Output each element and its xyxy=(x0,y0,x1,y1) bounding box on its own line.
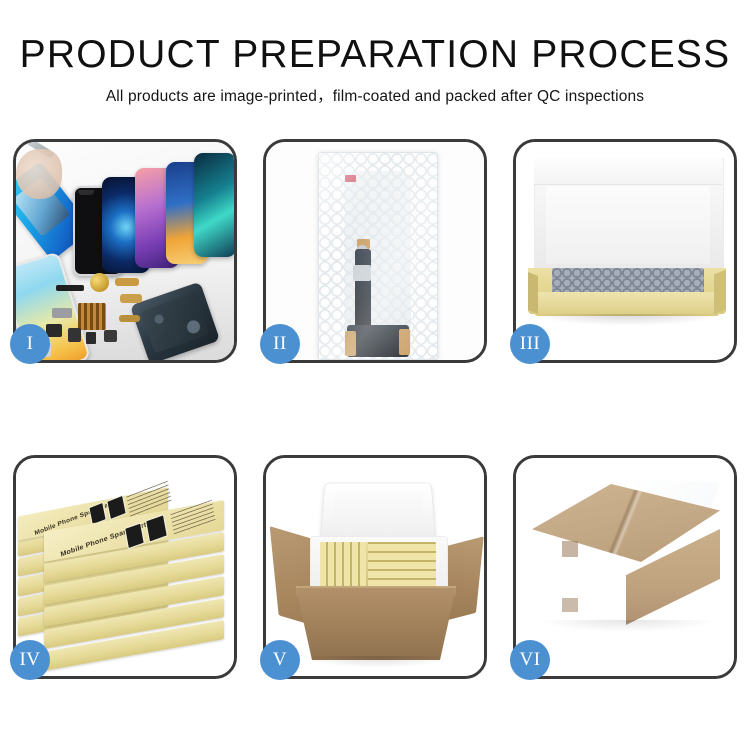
step-3-image xyxy=(516,142,734,360)
carton-shadow xyxy=(302,656,452,668)
product-preparation-page: PRODUCT PREPARATION PROCESS All products… xyxy=(0,0,750,750)
part-chip-3 xyxy=(86,332,96,344)
bubble-wrap-bag xyxy=(318,152,438,360)
step-panel-3: III xyxy=(513,139,737,363)
step-6-image xyxy=(516,458,734,676)
step-5-image xyxy=(266,458,484,676)
foam-lid-open xyxy=(319,483,436,545)
step-panel-4: Mobile Phone Spare Parts Mobile Phone Sp… xyxy=(13,455,237,679)
part-camera-module xyxy=(104,330,117,342)
part-gold-disc xyxy=(90,273,109,292)
page-subtitle: All products are image-printed，film-coat… xyxy=(0,84,750,106)
step-panel-5: V xyxy=(263,455,487,679)
part-metal-bracket xyxy=(52,308,72,318)
step-panel-6: VI xyxy=(513,455,737,679)
part-chip-1 xyxy=(46,324,62,337)
process-steps-grid: I II xyxy=(13,139,737,679)
plastic-sheen xyxy=(319,153,437,359)
part-flex-cable-3 xyxy=(119,315,140,322)
step-1-image xyxy=(16,142,234,360)
step-badge-1: I xyxy=(10,324,50,364)
box-shadow xyxy=(530,314,726,326)
part-connector-grid xyxy=(78,303,106,330)
step-badge-6: VI xyxy=(510,640,550,680)
box-lid-inner-face xyxy=(546,186,710,264)
part-speaker-mesh xyxy=(56,285,84,291)
carton-body-open xyxy=(296,588,456,660)
header: PRODUCT PREPARATION PROCESS All products… xyxy=(0,34,750,106)
part-flex-cable-1 xyxy=(115,278,139,286)
carton-shadow xyxy=(540,620,716,632)
step-4-image: Mobile Phone Spare Parts Mobile Phone Sp… xyxy=(16,458,234,676)
box-tray-right-wall xyxy=(714,270,726,315)
box-tray-left-wall xyxy=(528,272,538,314)
carton-tape-upper xyxy=(562,541,578,557)
step-panel-1: I xyxy=(13,139,237,363)
step-badge-2: II xyxy=(260,324,300,364)
step-badge-4: IV xyxy=(10,640,50,680)
step-panel-2: II xyxy=(263,139,487,363)
part-chip-2 xyxy=(68,328,81,342)
carton-tape-lower xyxy=(562,598,578,612)
part-flex-cable-2 xyxy=(120,294,142,303)
box-tray-front-face xyxy=(534,292,720,316)
phone-teal-wallpaper xyxy=(194,153,234,257)
page-title: PRODUCT PREPARATION PROCESS xyxy=(0,34,750,75)
step-badge-3: III xyxy=(510,324,550,364)
technician-hand xyxy=(16,149,62,199)
step-2-image xyxy=(266,142,484,360)
step-badge-5: V xyxy=(260,640,300,680)
box-lid-edge xyxy=(534,158,722,185)
